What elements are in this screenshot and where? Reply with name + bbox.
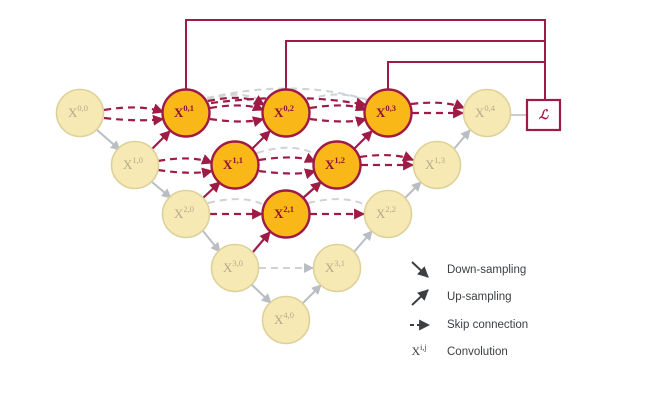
up-arrow-x11-x02	[252, 131, 270, 149]
down-arrow-x10-x20	[152, 182, 171, 198]
loss-label: ℒ	[539, 107, 549, 122]
node-circle[interactable]	[163, 191, 210, 238]
legend-item-skip-connection: Skip connection	[410, 319, 528, 331]
legend-item-down-sampling: Down-sampling	[412, 262, 526, 277]
node-x40[interactable]: X4,0	[263, 297, 310, 344]
down-arrow-x20-x30	[203, 231, 220, 252]
node-circle[interactable]	[314, 245, 361, 292]
node-x20[interactable]: X2,0	[163, 191, 210, 238]
deep-supervision-path-x01	[186, 20, 545, 100]
node-x00[interactable]: X0,0	[57, 90, 104, 137]
skip-gray-x21-x22	[308, 199, 368, 206]
skip-x02-x04	[411, 103, 464, 108]
node-circle[interactable]	[112, 142, 159, 189]
up-arrow-x22-x13	[405, 182, 421, 198]
node-circle[interactable]	[212, 245, 259, 292]
skip-x01-x02	[210, 105, 263, 110]
skip-x02-x03-b	[310, 119, 366, 122]
skip-x00-x01-b	[104, 118, 163, 120]
convolution-glyph-sup: i,j	[420, 343, 426, 352]
node-circle[interactable]	[263, 90, 310, 137]
up-arrow-x21-x12	[303, 182, 321, 198]
legend-item-convolution: Xi,j Convolution	[411, 343, 507, 358]
node-x02[interactable]: X0,2	[263, 90, 310, 137]
nodes-layer: X0,0X0,1X0,2X0,3X0,4X1,0X1,1X1,2X1,3X2,0…	[57, 90, 511, 344]
up-arrow-x10-x01	[152, 131, 170, 149]
figure-canvas: X0,0X0,1X0,2X0,3X0,4X1,0X1,1X1,2X1,3X2,0…	[0, 0, 650, 418]
down-arrow-icon	[412, 262, 428, 277]
down-arrow-x00-x10	[97, 130, 120, 150]
skip-x11-x12	[259, 157, 315, 162]
node-x30[interactable]: X3,0	[212, 245, 259, 292]
skip-gray-x20-x21	[208, 199, 266, 206]
node-circle[interactable]	[314, 142, 361, 189]
skip-x00-x01	[104, 107, 163, 112]
node-circle[interactable]	[263, 191, 310, 238]
legend-label-up-sampling: Up-sampling	[447, 291, 512, 303]
node-x12[interactable]: X1,2	[314, 142, 361, 189]
node-x11[interactable]: X1,1	[212, 142, 259, 189]
up-arrow-icon	[412, 290, 428, 305]
skip-x11-x13	[360, 155, 413, 160]
node-circle[interactable]	[464, 90, 511, 137]
node-x10[interactable]: X1,0	[112, 142, 159, 189]
node-circle[interactable]	[57, 90, 104, 137]
node-x31[interactable]: X3,1	[314, 245, 361, 292]
node-x01[interactable]: X0,1	[163, 90, 210, 137]
skip-gray-x11-x12	[257, 148, 318, 156]
deep-supervision-group	[186, 20, 545, 100]
deep-supervision-path-x03	[388, 62, 545, 90]
up-arrow-x40-x31	[303, 285, 321, 303]
unetpp-architecture-diagram: X0,0X0,1X0,2X0,3X0,4X1,0X1,1X1,2X1,3X2,0…	[0, 0, 650, 418]
skip-x10-x11	[158, 158, 212, 163]
node-x21[interactable]: X2,1	[263, 191, 310, 238]
node-x13[interactable]: X1,3	[414, 142, 461, 189]
legend-label-skip-connection: Skip connection	[447, 319, 528, 331]
skip-x11-x12-b	[259, 171, 315, 174]
node-x22[interactable]: X2,2	[365, 191, 412, 238]
convolution-glyph: Xi,j	[411, 343, 426, 358]
down-arrow-x30-x40	[252, 285, 271, 303]
up-arrow-x20-x11	[203, 182, 220, 198]
skip-x10-x11-b	[158, 170, 212, 173]
skip-x01-x02-b	[210, 119, 263, 122]
legend-label-down-sampling: Down-sampling	[447, 264, 526, 276]
node-x03[interactable]: X0,3	[365, 90, 412, 137]
node-circle[interactable]	[365, 90, 412, 137]
legend-item-up-sampling: Up-sampling	[412, 290, 512, 305]
up-arrow-x31-x22	[354, 231, 372, 252]
convolution-glyph-base: X	[411, 344, 420, 358]
node-x04[interactable]: X0,4	[464, 90, 511, 137]
node-circle[interactable]	[263, 297, 310, 344]
legend: Down-sampling Up-sampling Skip connectio…	[410, 262, 528, 358]
skip-x02-x03	[310, 105, 366, 110]
up-arrow-x30-x21	[253, 232, 270, 252]
up-arrow-x12-x03	[354, 131, 372, 149]
node-circle[interactable]	[212, 142, 259, 189]
loss-node[interactable]: ℒ	[527, 100, 560, 130]
node-circle[interactable]	[414, 142, 461, 189]
legend-label-convolution: Convolution	[447, 346, 508, 358]
up-arrow-x13-x04	[454, 130, 470, 149]
node-circle[interactable]	[163, 90, 210, 137]
deep-supervision-path-x02	[286, 41, 545, 90]
node-circle[interactable]	[365, 191, 412, 238]
